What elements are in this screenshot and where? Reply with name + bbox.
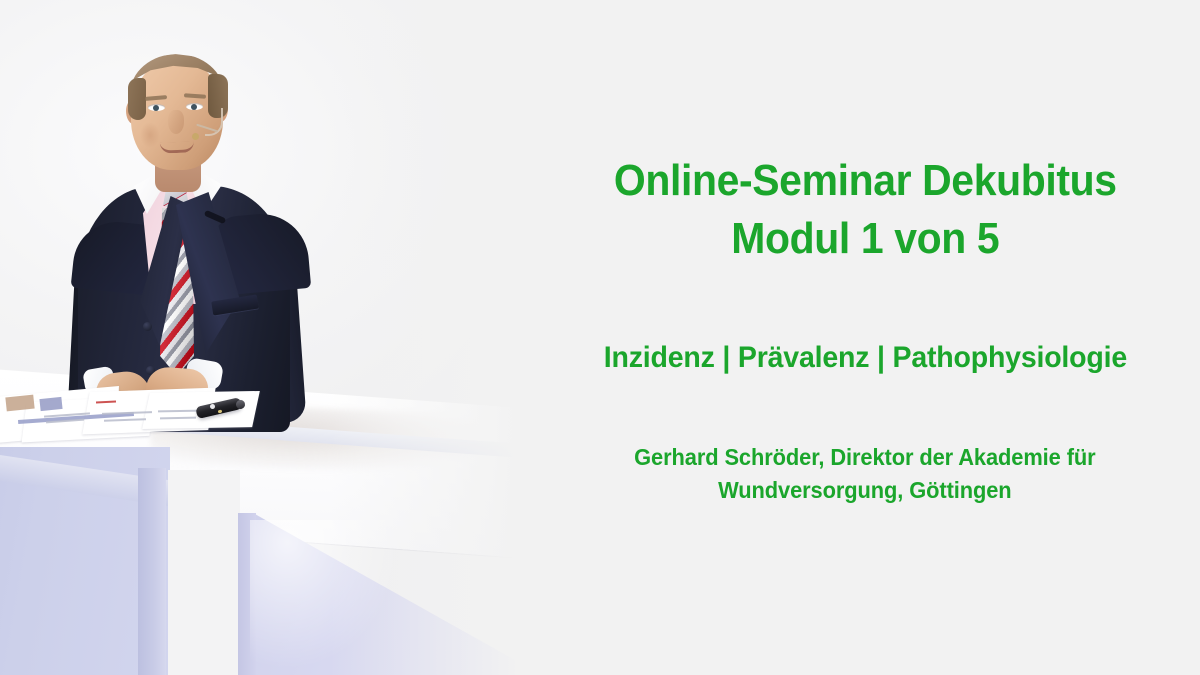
pupil-right [191,104,197,110]
page-title: Online-Seminar Dekubitus Modul 1 von 5 [614,0,1117,268]
desk-panel-right-highlight [250,520,400,670]
presenter-credit: Gerhard Schröder, Direktor der Akademie … [634,377,1095,506]
desk-panel-left-side [138,468,166,675]
hair-side-left [128,78,146,120]
presenter-line-2: Wundversorgung, Göttingen [718,477,1011,503]
pupil-left [153,105,159,111]
desk-panel-gap [168,470,240,675]
slide-subtitle: Inzidenz | Prävalenz | Pathophysiologie [603,268,1126,377]
document-graphic [5,395,34,412]
title-line-1: Online-Seminar Dekubitus [614,156,1117,205]
presenter-line-1: Gerhard Schröder, Direktor der Akademie … [634,444,1095,470]
jacket-button [143,322,152,331]
cheek-shading [140,122,160,148]
title-line-2: Modul 1 von 5 [731,214,999,263]
nose [168,110,184,134]
slide-text-block: Online-Seminar Dekubitus Modul 1 von 5 I… [530,0,1200,675]
presenter-photo [0,0,520,675]
seminar-title-slide: Online-Seminar Dekubitus Modul 1 von 5 I… [0,0,1200,675]
headset-microphone-capsule-icon [192,133,199,140]
document-graphic [39,397,62,411]
